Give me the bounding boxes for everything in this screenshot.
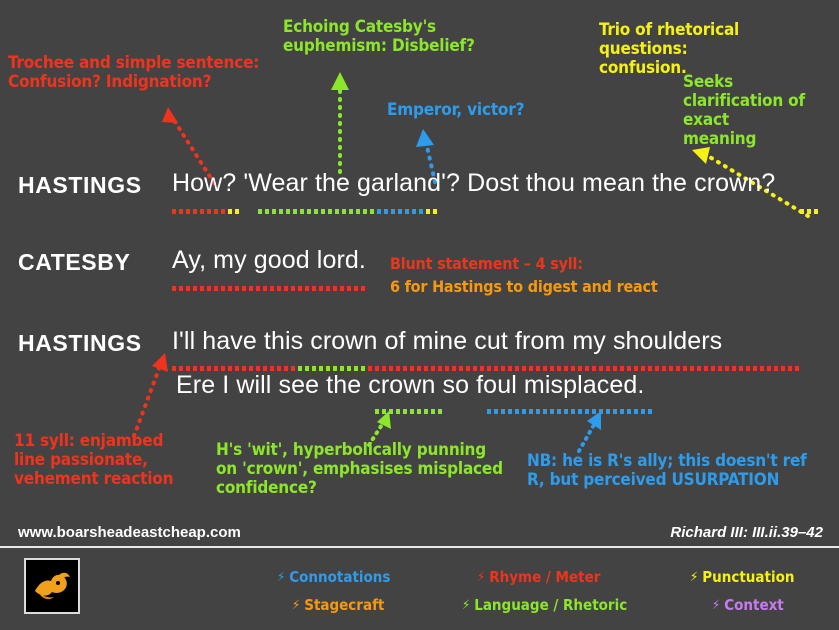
annotation-six-for-hastings: 6 for Hastings to digest and react <box>390 278 658 296</box>
annotation-eleven-syllables: 11 syll: enjambed line passionate, vehem… <box>14 432 173 489</box>
annotation-emperor-victor: Emperor, victor? <box>387 101 524 120</box>
legend-label: Context <box>724 596 784 614</box>
legend-item-stagecraft[interactable]: ⚡ Stagecraft <box>292 596 384 614</box>
legend-item-rhyme-meter[interactable]: ⚡ Rhyme / Meter <box>477 568 600 586</box>
underline-dots-so-foul-misplaced <box>487 408 655 414</box>
annotation-echoing-catesby: Echoing Catesby's euphemism: Disbelief? <box>283 18 475 56</box>
bolt-icon: ⚡ <box>462 599 470 612</box>
speaker-catesby: CATESBY <box>18 249 130 276</box>
script-line-4: Ere I will see the crown so foul misplac… <box>176 371 644 400</box>
annotation-blunt-statement: Blunt statement – 4 syll: <box>390 255 583 273</box>
slide-canvas: Trochee and simple sentence: Confusion? … <box>0 0 839 630</box>
website-label: www.boarsheadeastcheap.com <box>18 524 241 541</box>
underline-dots-ay-my-good-lord <box>172 285 368 291</box>
legend-label: Stagecraft <box>304 596 384 614</box>
underline-dots-crown-green <box>375 408 445 414</box>
legend-label: Punctuation <box>702 568 794 586</box>
legend-label: Connotations <box>289 568 390 586</box>
legend-label: Rhyme / Meter <box>489 568 600 586</box>
bolt-icon: ⚡ <box>690 571 698 584</box>
annotation-nb-usurpation: NB: he is R's ally; this doesn't ref R, … <box>527 452 807 490</box>
script-line-1: How? 'Wear the garland'? Dost thou mean … <box>172 169 775 198</box>
script-line-3: I'll have this crown of mine cut from my… <box>172 327 722 356</box>
bolt-icon: ⚡ <box>477 571 485 584</box>
legend-item-language-rhetoric[interactable]: ⚡ Language / Rhetoric <box>462 596 627 614</box>
footer-divider-top <box>0 546 839 548</box>
arrow-echoing-catesby-to-garland <box>320 60 360 175</box>
bolt-icon: ⚡ <box>712 599 720 612</box>
bolt-icon: ⚡ <box>277 571 285 584</box>
annotation-trochee: Trochee and simple sentence: Confusion? … <box>8 54 259 92</box>
legend-item-connotations[interactable]: ⚡ Connotations <box>277 568 390 586</box>
speaker-hastings-1: HASTINGS <box>18 172 142 199</box>
legend: ⚡ Connotations ⚡ Rhyme / Meter ⚡ Punctua… <box>0 560 839 620</box>
legend-item-context[interactable]: ⚡ Context <box>712 596 784 614</box>
underline-dots-wear-the-garland <box>258 208 440 214</box>
script-line-2: Ay, my good lord. <box>172 246 366 275</box>
underline-dots-how <box>172 208 242 214</box>
legend-item-punctuation[interactable]: ⚡ Punctuation <box>690 568 794 586</box>
legend-label: Language / Rhetoric <box>474 596 627 614</box>
annotation-trio-rhetorical-questions: Trio of rhetorical questions: confusion. <box>599 21 739 78</box>
speaker-hastings-2: HASTINGS <box>18 330 142 357</box>
annotation-hastings-wit: H's 'wit', hyperbolically punning on 'cr… <box>216 441 503 498</box>
citation-label: Richard III: III.ii.39–42 <box>670 524 823 541</box>
bolt-icon: ⚡ <box>292 599 300 612</box>
underline-dots-crown-question <box>800 208 821 214</box>
